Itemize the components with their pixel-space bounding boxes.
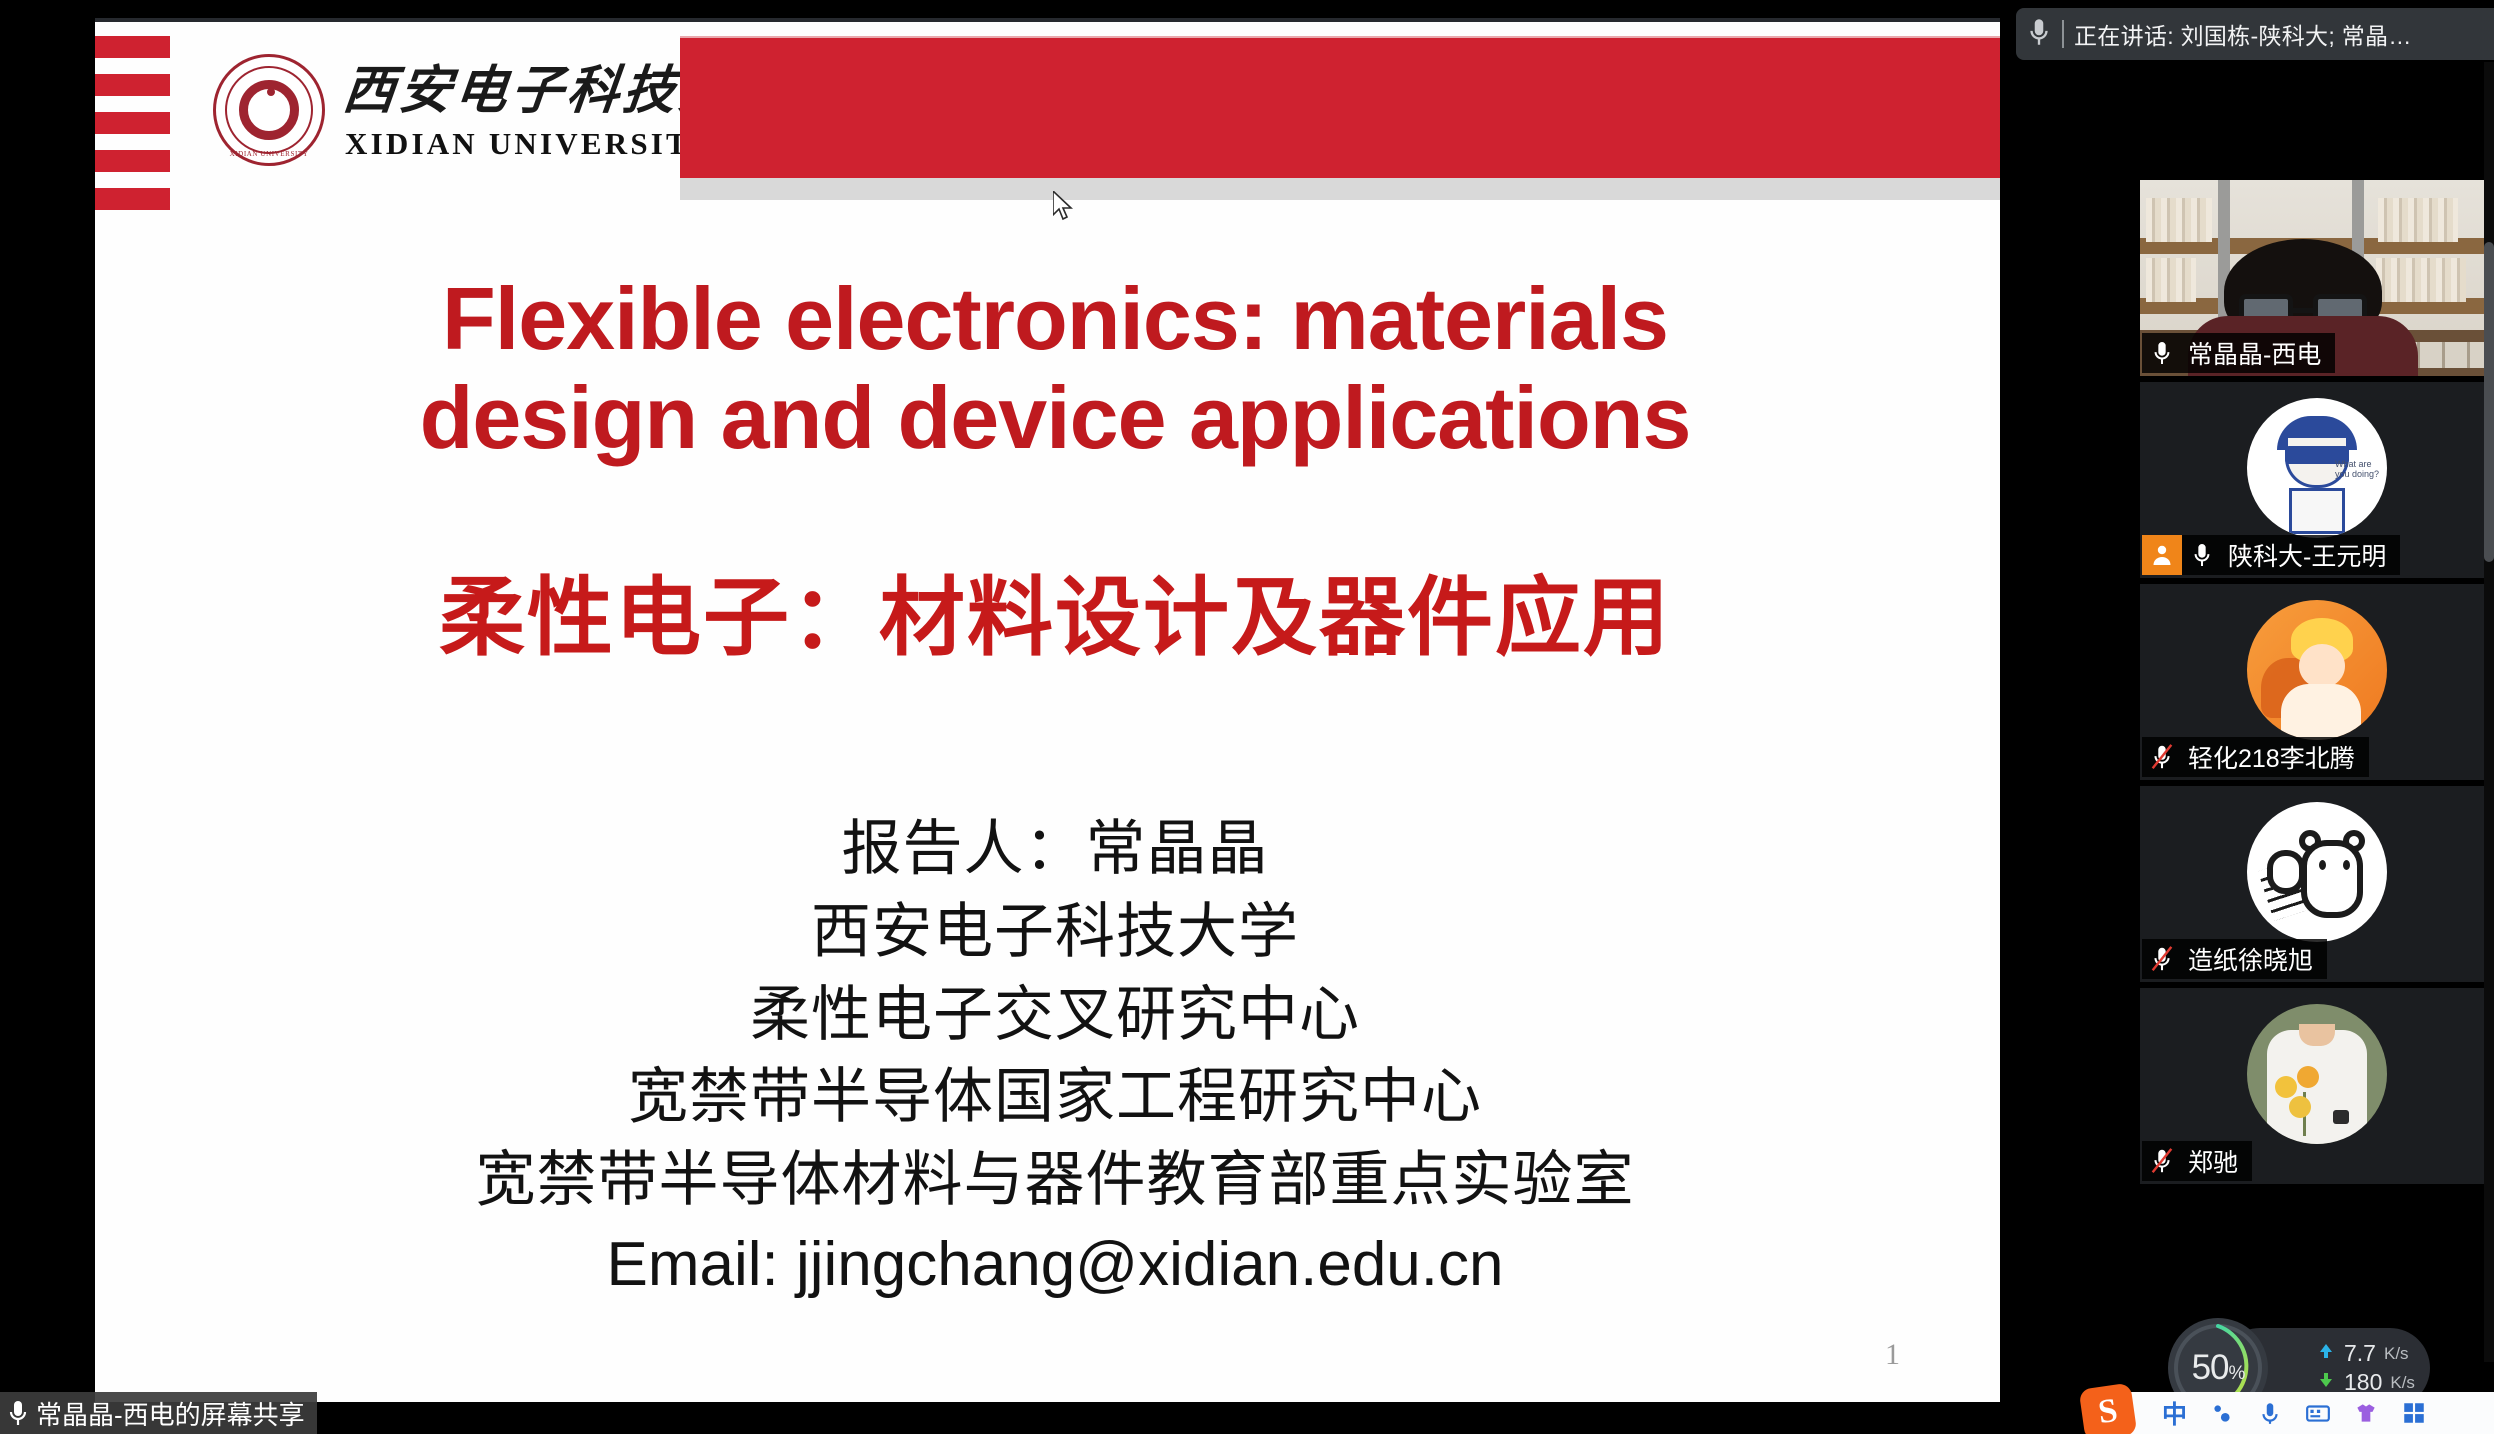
upload-speed-value: 7.7	[2344, 1340, 2376, 1367]
slide-body: 报告人：常晶晶 西安电子科技大学 柔性电子交叉研究中心 宽禁带半导体国家工程研究…	[195, 808, 1915, 1308]
avatar	[2247, 1004, 2387, 1144]
microphone-icon	[2026, 16, 2052, 53]
participant-nameplate: 陕科大-王元明	[2142, 535, 2400, 575]
microphone-muted-icon	[2142, 945, 2182, 973]
body-line: 柔性电子交叉研究中心	[195, 974, 1915, 1057]
participant-nameplate: 轻化218李北腾	[2142, 737, 2369, 777]
microphone-muted-icon	[2142, 1147, 2182, 1175]
screen: XIDIAN UNIVERSITY 西安电子科技大学 XIDIAN UNIVER…	[0, 0, 2494, 1434]
punctuation-icon[interactable]	[2209, 1400, 2235, 1426]
slide-top-border	[95, 18, 2000, 22]
microphone-icon	[2182, 541, 2222, 569]
slide-title-en-line2: design and device applications	[195, 369, 1915, 468]
scrollbar-thumb[interactable]	[2484, 242, 2494, 562]
body-line: 西安电子科技大学	[195, 891, 1915, 974]
screen-share-footer: 常晶晶-西电的屏幕共享	[0, 1392, 317, 1434]
participant-tile[interactable]: 郑驰	[2140, 988, 2494, 1184]
participant-name: 常晶晶-西电	[2182, 335, 2321, 371]
ime-toolbar[interactable]: 中	[2108, 1392, 2494, 1434]
microphone-icon	[2142, 339, 2182, 367]
panel-scrollbar[interactable]	[2484, 62, 2494, 1362]
upload-speed-row: 7.7 K/s	[2316, 1340, 2415, 1367]
microphone-icon	[6, 1398, 30, 1428]
skin-icon[interactable]	[2353, 1400, 2379, 1426]
screen-share-label: 常晶晶-西电的屏幕共享	[36, 1395, 305, 1432]
microphone-muted-icon	[2142, 743, 2182, 771]
slide-title-cn: 柔性电子：材料设计及器件应用	[195, 568, 1915, 669]
toolbox-icon[interactable]	[2401, 1400, 2427, 1426]
participant-name: 造纸徐晓旭	[2182, 941, 2313, 977]
header-red-band	[680, 38, 2000, 178]
ime-mode-toggle[interactable]: 中	[2162, 1395, 2187, 1431]
avatar	[2247, 600, 2387, 740]
slide-page-number: 1	[1885, 1338, 1900, 1372]
participant-tile[interactable]: 轻化218李北腾	[2140, 584, 2494, 780]
slide-title-en-line1: Flexible electronics: materials	[195, 270, 1915, 369]
shared-screen-area[interactable]: XIDIAN UNIVERSITY 西安电子科技大学 XIDIAN UNIVER…	[0, 0, 2000, 1434]
university-name-en: XIDIAN UNIVERSITY	[345, 126, 716, 162]
university-seal-icon: XIDIAN UNIVERSITY	[213, 54, 325, 166]
participants-panel[interactable]: 正在讲话: 刘国栋-陕科大; 常晶…	[2000, 0, 2494, 1434]
participant-tile[interactable]: What are you doing? 陕科大-	[2140, 382, 2494, 578]
presentation-slide[interactable]: XIDIAN UNIVERSITY 西安电子科技大学 XIDIAN UNIVER…	[95, 18, 2000, 1402]
participant-tile[interactable]: 常晶晶-西电	[2140, 180, 2494, 376]
upload-speed-unit: K/s	[2384, 1344, 2409, 1364]
participant-tile[interactable]: 造纸徐晓旭	[2140, 786, 2494, 982]
body-line: 报告人：常晶晶	[195, 808, 1915, 891]
keyboard-icon[interactable]	[2305, 1400, 2331, 1426]
header-gray-strip	[680, 178, 2000, 200]
voice-input-icon[interactable]	[2257, 1400, 2283, 1426]
participant-nameplate: 造纸徐晓旭	[2142, 939, 2327, 979]
host-person-icon	[2142, 535, 2182, 575]
participant-name: 郑驰	[2182, 1143, 2238, 1179]
participant-name: 轻化218李北腾	[2182, 739, 2355, 775]
body-line: 宽禁带半导体国家工程研究中心	[195, 1056, 1915, 1139]
active-speaker-banner: 正在讲话: 刘国栋-陕科大; 常晶…	[2016, 8, 2494, 60]
divider	[2062, 20, 2064, 48]
avatar	[2247, 802, 2387, 942]
contact-email: Email: jjingchang@xidian.edu.cn	[195, 1222, 1915, 1308]
active-speaker-text: 正在讲话: 刘国栋-陕科大; 常晶…	[2074, 17, 2412, 51]
body-line: 宽禁带半导体材料与器件教育部重点实验室	[195, 1139, 1915, 1222]
decorative-red-bars	[95, 36, 170, 196]
sogou-ime-logo[interactable]: S	[2079, 1383, 2138, 1434]
participant-name: 陕科大-王元明	[2222, 537, 2386, 573]
participant-nameplate: 郑驰	[2142, 1141, 2252, 1181]
avatar: What are you doing?	[2247, 398, 2387, 538]
gauge-value: 50%	[2192, 1348, 2245, 1388]
slide-title-en: Flexible electronics: materials design a…	[195, 270, 1915, 467]
arrow-up-icon	[2316, 1340, 2336, 1367]
seal-text: XIDIAN UNIVERSITY	[213, 150, 325, 158]
download-speed-unit: K/s	[2390, 1373, 2415, 1393]
participant-nameplate: 常晶晶-西电	[2142, 333, 2335, 373]
